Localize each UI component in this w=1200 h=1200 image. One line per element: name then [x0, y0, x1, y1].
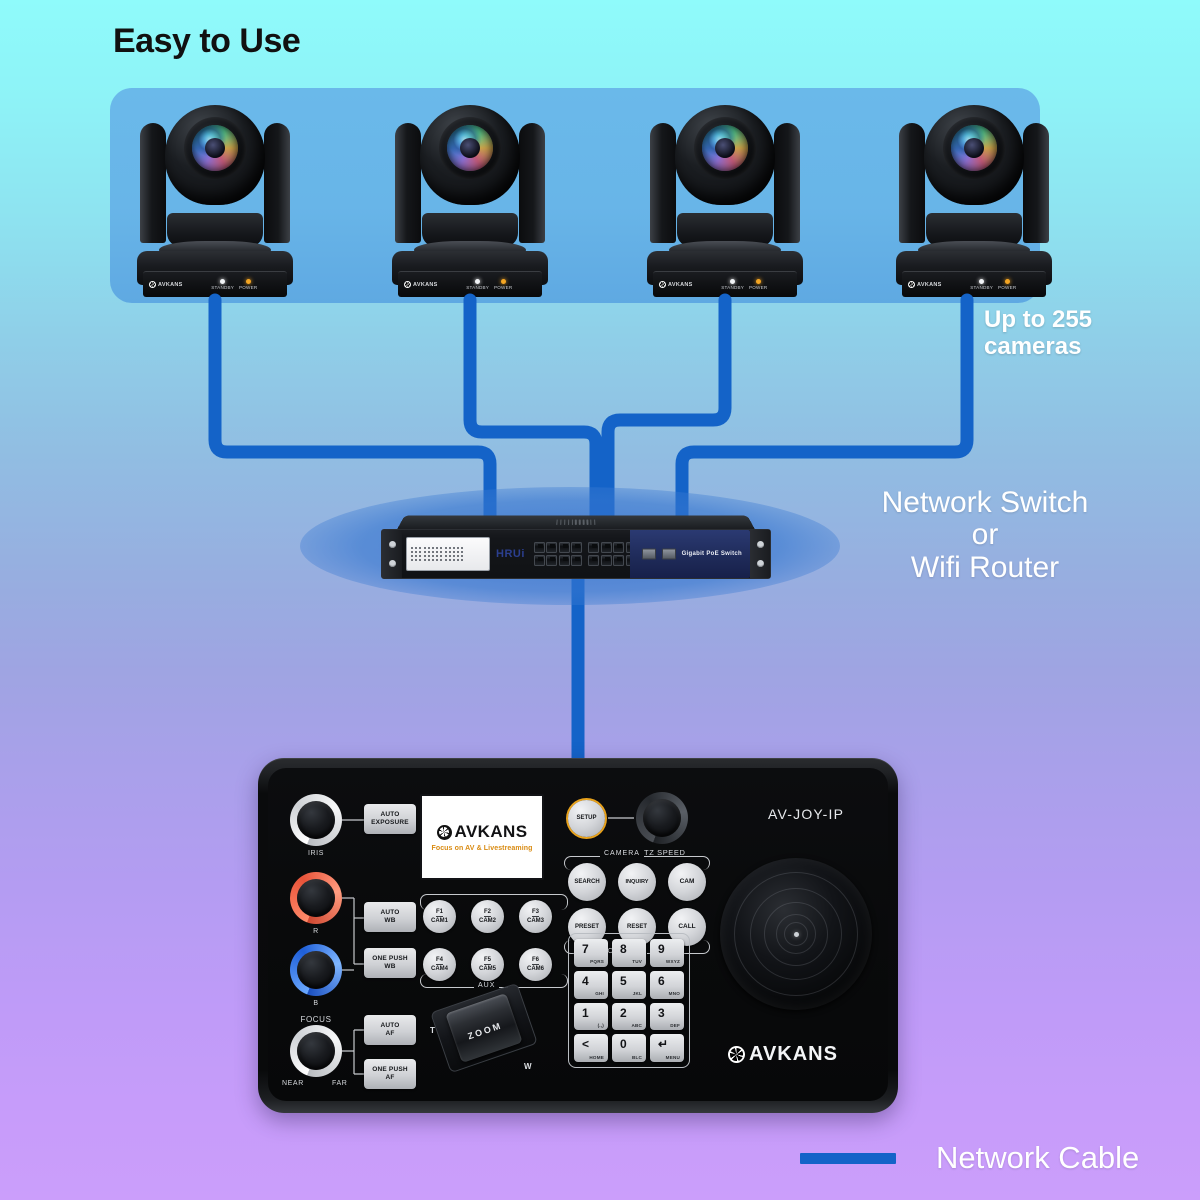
- camera-lens: [702, 125, 748, 171]
- controller-faceplate: AV-JOY-IP AVKANS Focus on AV & Livestrea…: [268, 768, 888, 1101]
- keypad-key-number: 2: [620, 1006, 627, 1020]
- keypad-key-jkl[interactable]: 5JKL: [612, 971, 646, 999]
- f4-label: F4: [436, 957, 443, 965]
- switch-port-row: [534, 542, 583, 553]
- switch-navy-panel: Gigabit PoE Switch: [630, 530, 750, 578]
- camera-brand-text: AVKANS: [668, 282, 693, 288]
- auto-exposure-button[interactable]: AUTO EXPOSURE: [364, 804, 416, 834]
- cam4-label: CAM4: [431, 965, 448, 972]
- blue-gain-knob[interactable]: [290, 944, 342, 996]
- f6-label: F6: [532, 957, 539, 965]
- power-led-icon: [246, 279, 251, 284]
- camera-yoke-arm-right: [519, 123, 545, 243]
- standby-label: STANDBY: [970, 285, 993, 290]
- cam1-label: CAM1: [431, 917, 448, 924]
- keypad-key-number: 8: [620, 942, 627, 956]
- switch-model-label: Gigabit PoE Switch: [682, 551, 742, 557]
- numeric-keypad[interactable]: 7PQRS8TUV9WXYZ4GHI5JKL6MNO1(.,)2ABC3DEF<…: [568, 933, 690, 1068]
- standby-led-icon: [979, 279, 984, 284]
- blue-gain-knob-label: B: [290, 1000, 342, 1007]
- camera-lens-ring: [439, 117, 501, 179]
- rj45-port[interactable]: [613, 555, 624, 566]
- camera-yoke-arm-right: [1023, 123, 1049, 243]
- camera-yoke-arm-right: [264, 123, 290, 243]
- f2-label: F2: [484, 909, 491, 917]
- camera-lens-ring: [184, 117, 246, 179]
- switch-led-row: [411, 547, 485, 549]
- one-push-af-line1: ONE PUSH: [372, 1066, 408, 1074]
- camera-yoke-arm-left: [899, 123, 925, 243]
- power-label: POWER: [998, 285, 1016, 290]
- switch-led-panel: [406, 537, 490, 571]
- rj45-port[interactable]: [601, 542, 612, 553]
- keypad-key-sublabel: MENU: [666, 1055, 680, 1060]
- switch-led-row: [411, 559, 485, 561]
- switch-led-row: [411, 555, 485, 557]
- keypad-key-number: 5: [620, 974, 627, 988]
- focus-knob-cap: [297, 1032, 335, 1070]
- iris-knob-cap: [297, 801, 335, 839]
- cam3-label: CAM3: [527, 917, 544, 924]
- auto-af-button[interactable]: AUTO AF: [364, 1015, 416, 1045]
- camera-yoke-arm-right: [774, 123, 800, 243]
- cam5-label: CAM5: [479, 965, 496, 972]
- sfp-port[interactable]: [662, 549, 676, 560]
- auto-wb-line2: WB: [384, 917, 395, 925]
- ptz-camera-3[interactable]: AVKANSSTANDBYPOWER: [639, 105, 811, 300]
- keypad-key-number: 0: [620, 1037, 627, 1051]
- aperture-icon: [437, 825, 452, 840]
- keypad-key-number: <: [582, 1037, 589, 1051]
- camera-front-plate: AVKANSSTANDBYPOWER: [653, 271, 797, 297]
- switch-port-block-1[interactable]: [531, 542, 586, 566]
- focus-near-label: NEAR: [282, 1080, 304, 1087]
- aperture-icon: [728, 1046, 745, 1063]
- keypad-key-sublabel: BLC: [632, 1055, 642, 1060]
- switch-brand-logo: HRUi: [496, 548, 525, 560]
- switch-rack-ear-right: [750, 530, 770, 578]
- zoom-wide-label: W: [524, 1062, 532, 1071]
- switch-rack-ear-left: [382, 530, 402, 578]
- controller-brand-text: AVKANS: [749, 1043, 838, 1066]
- rj45-port[interactable]: [559, 555, 570, 566]
- legend: Network Cable: [800, 1140, 1180, 1176]
- power-led-icon: [501, 279, 506, 284]
- inquiry-button[interactable]: INQUIRY: [618, 863, 656, 901]
- standby-label: STANDBY: [211, 285, 234, 290]
- auto-af-line1: AUTO: [380, 1022, 399, 1030]
- ptz-speed-knob-cap: [643, 799, 681, 837]
- cable-camera-1: [215, 300, 490, 520]
- diagram-stage: Easy to Use AVKANSSTANDBYPOWER AVKANSSTA…: [0, 0, 1200, 1200]
- cam2-label: CAM2: [479, 917, 496, 924]
- switch-port-row: [534, 555, 583, 566]
- standby-led-icon: [220, 279, 225, 284]
- aperture-icon: [149, 281, 156, 288]
- aux-group-label: AUX: [474, 982, 499, 989]
- ptz-camera-1[interactable]: AVKANSSTANDBYPOWER: [129, 105, 301, 300]
- cam-button[interactable]: CAM: [668, 863, 706, 901]
- keypad-key-wxyz[interactable]: 9WXYZ: [650, 939, 684, 967]
- page-title: Easy to Use: [113, 22, 300, 61]
- switch-caption-line1: Network Switch: [845, 487, 1125, 519]
- camera-brand-logo: AVKANS: [404, 281, 438, 288]
- camera-lens: [951, 125, 997, 171]
- power-led-icon: [756, 279, 761, 284]
- power-led-icon: [1005, 279, 1010, 284]
- keypad-key-menu[interactable]: ↵MENU: [650, 1034, 684, 1062]
- camera-lens-ring: [694, 117, 756, 179]
- rj45-port[interactable]: [571, 555, 582, 566]
- search-label: SEARCH: [574, 879, 599, 886]
- one-push-wb-button[interactable]: ONE PUSH WB: [364, 948, 416, 978]
- switch-face: HRUi Gigabit PoE Switch: [402, 530, 750, 578]
- camera-front-plate: AVKANSSTANDBYPOWER: [902, 271, 1046, 297]
- camera-brand-text: AVKANS: [413, 282, 438, 288]
- aperture-icon: [404, 281, 411, 288]
- camera-head: [411, 105, 529, 225]
- red-gain-knob[interactable]: [290, 872, 342, 924]
- f3-cam3-button[interactable]: F3 CAM3: [519, 900, 552, 933]
- legend-cable-swatch: [800, 1153, 896, 1164]
- standby-led-icon: [475, 279, 480, 284]
- keypad-key-number: 6: [658, 974, 665, 988]
- rj45-port[interactable]: [601, 555, 612, 566]
- camera-head: [915, 105, 1033, 225]
- zoom-rocker[interactable]: ZOOM: [430, 983, 538, 1073]
- camera-dome: [165, 105, 265, 205]
- camera-brand-text: AVKANS: [158, 282, 183, 288]
- setup-label: SETUP: [576, 815, 596, 822]
- call-label: CALL: [678, 923, 695, 930]
- camera-power-indicator: POWER: [749, 279, 767, 290]
- one-push-wb-line2: WB: [384, 963, 395, 971]
- keypad-key-number: ↵: [658, 1037, 668, 1051]
- keypad-key-sublabel: GHI: [595, 991, 604, 996]
- red-gain-knob-cap: [297, 879, 335, 917]
- controller-brand-logo: AVKANS: [728, 1043, 838, 1066]
- focus-far-label: FAR: [332, 1080, 347, 1087]
- rj45-port[interactable]: [546, 555, 557, 566]
- keypad-key-sublabel: WXYZ: [666, 959, 680, 964]
- cam6-label: CAM6: [527, 965, 544, 972]
- ptz-camera-2[interactable]: AVKANSSTANDBYPOWER: [384, 105, 556, 300]
- switch-caption-line2: or: [845, 519, 1125, 551]
- camera-power-indicator: POWER: [494, 279, 512, 290]
- keypad-key-sublabel: HOME: [589, 1055, 604, 1060]
- keypad-key-number: 9: [658, 942, 665, 956]
- keypad-key-number: 3: [658, 1006, 665, 1020]
- f1-cam1-button[interactable]: F1 CAM1: [423, 900, 456, 933]
- lcd-logo: AVKANS: [437, 822, 528, 842]
- keypad-key-sublabel: MNO: [669, 991, 680, 996]
- legend-cable-label: Network Cable: [936, 1140, 1139, 1176]
- keypad-key-tuv[interactable]: 8TUV: [612, 939, 646, 967]
- standby-label: STANDBY: [466, 285, 489, 290]
- power-label: POWER: [749, 285, 767, 290]
- cable-camera-3: [608, 300, 725, 520]
- reset-label: RESET: [627, 924, 647, 931]
- keypad-key-number: 1: [582, 1006, 589, 1020]
- switch-caption: Network Switch or Wifi Router: [845, 487, 1125, 584]
- camera-brand-logo: AVKANS: [908, 281, 942, 288]
- preset-label: PRESET: [575, 924, 599, 931]
- camera-lens: [192, 125, 238, 171]
- keypad-key-sublabel: ABC: [631, 1023, 642, 1028]
- blue-gain-knob-cap: [297, 951, 335, 989]
- one-push-wb-line1: ONE PUSH: [372, 955, 408, 963]
- ptz-camera-4[interactable]: AVKANSSTANDBYPOWER: [888, 105, 1060, 300]
- keypad-key-abc[interactable]: 2ABC: [612, 1003, 646, 1031]
- ptz-controller[interactable]: AV-JOY-IP AVKANS Focus on AV & Livestrea…: [258, 758, 898, 1113]
- switch-sfp-ports[interactable]: [642, 549, 676, 560]
- switch-caption-line3: Wifi Router: [845, 552, 1125, 584]
- auto-exposure-line2: EXPOSURE: [371, 819, 409, 827]
- camera-brand-text: AVKANS: [917, 282, 942, 288]
- camera-dome: [675, 105, 775, 205]
- rj45-port[interactable]: [546, 542, 557, 553]
- focus-knob[interactable]: [290, 1025, 342, 1077]
- camera-standby-indicator: STANDBY: [721, 279, 744, 290]
- camera-front-plate: AVKANSSTANDBYPOWER: [398, 271, 542, 297]
- focus-knob-label: FOCUS: [286, 1015, 346, 1024]
- keypad-key-sublabel: PQRS: [590, 959, 604, 964]
- camera-yoke-arm-left: [140, 123, 166, 243]
- auto-wb-button[interactable]: AUTO WB: [364, 902, 416, 932]
- keypad-key-pqrs[interactable]: 7PQRS: [574, 939, 608, 967]
- f1-label: F1: [436, 909, 443, 917]
- camera-capacity-line2: cameras: [984, 334, 1184, 361]
- keypad-key-ghi[interactable]: 4GHI: [574, 971, 608, 999]
- iris-knob[interactable]: [290, 794, 342, 846]
- controller-lcd-screen[interactable]: AVKANS Focus on AV & Livestreaming: [420, 794, 544, 880]
- ptz-speed-knob[interactable]: [636, 792, 688, 844]
- search-button[interactable]: SEARCH: [568, 863, 606, 901]
- keypad-key-number: 4: [582, 974, 589, 988]
- camera-dome: [420, 105, 520, 205]
- camera-head: [666, 105, 784, 225]
- keypad-key-mno[interactable]: 6MNO: [650, 971, 684, 999]
- joystick-center-dot: [794, 932, 799, 937]
- zoom-tele-label: T: [430, 1026, 435, 1035]
- switch-vent-slots: [556, 519, 595, 524]
- camera-group-label: CAMERA: [600, 850, 644, 857]
- camera-yoke-arm-left: [650, 123, 676, 243]
- camera-standby-indicator: STANDBY: [466, 279, 489, 290]
- power-label: POWER: [494, 285, 512, 290]
- camera-capacity-label: Up to 255 cameras: [984, 307, 1184, 361]
- auto-af-line2: AF: [385, 1030, 394, 1038]
- camera-standby-indicator: STANDBY: [211, 279, 234, 290]
- rj45-port[interactable]: [534, 555, 545, 566]
- camera-head: [156, 105, 274, 225]
- auto-wb-line1: AUTO: [380, 909, 399, 917]
- keypad-key-def[interactable]: 3DEF: [650, 1003, 684, 1031]
- lcd-logo-text: AVKANS: [455, 822, 528, 842]
- rj45-port[interactable]: [534, 542, 545, 553]
- camera-yoke-arm-left: [395, 123, 421, 243]
- iris-knob-label: IRIS: [290, 850, 342, 857]
- lcd-tagline: Focus on AV & Livestreaming: [431, 845, 532, 852]
- keypad-key-[interactable]: 1(.,): [574, 1003, 608, 1031]
- cam-label: CAM: [680, 878, 695, 885]
- keypad-key-sublabel: TUV: [632, 959, 642, 964]
- aperture-icon: [659, 281, 666, 288]
- rj45-port[interactable]: [588, 555, 599, 566]
- camera-power-indicator: POWER: [998, 279, 1016, 290]
- f3-label: F3: [532, 909, 539, 917]
- camera-dome: [924, 105, 1024, 205]
- rj45-port[interactable]: [588, 542, 599, 553]
- rj45-port[interactable]: [571, 542, 582, 553]
- camera-power-indicator: POWER: [239, 279, 257, 290]
- standby-label: STANDBY: [721, 285, 744, 290]
- keypad-key-sublabel: (.,): [598, 1023, 604, 1028]
- rj45-port[interactable]: [559, 542, 570, 553]
- power-label: POWER: [239, 285, 257, 290]
- camera-standby-indicator: STANDBY: [970, 279, 993, 290]
- keypad-key-sublabel: JKL: [633, 991, 642, 996]
- sfp-port[interactable]: [642, 549, 656, 560]
- f2-cam2-button[interactable]: F2 CAM2: [471, 900, 504, 933]
- standby-led-icon: [730, 279, 735, 284]
- one-push-af-button[interactable]: ONE PUSH AF: [364, 1059, 416, 1089]
- rj45-port[interactable]: [613, 542, 624, 553]
- ptz-joystick[interactable]: [720, 858, 872, 1010]
- camera-brand-logo: AVKANS: [149, 281, 183, 288]
- controller-model-label: AV-JOY-IP: [768, 806, 844, 822]
- network-switch[interactable]: HRUi Gigabit PoE Switch: [381, 511, 771, 579]
- switch-front-panel: HRUi Gigabit PoE Switch: [381, 529, 771, 579]
- camera-capacity-line1: Up to 255: [984, 307, 1184, 334]
- camera-brand-logo: AVKANS: [659, 281, 693, 288]
- one-push-af-line2: AF: [385, 1074, 394, 1082]
- keypad-key-sublabel: DEF: [670, 1023, 680, 1028]
- aperture-icon: [908, 281, 915, 288]
- f5-label: F5: [484, 957, 491, 965]
- switch-led-row: [411, 551, 485, 553]
- camera-lens-ring: [943, 117, 1005, 179]
- camera-front-plate: AVKANSSTANDBYPOWER: [143, 271, 287, 297]
- camera-lens: [447, 125, 493, 171]
- keypad-key-number: 7: [582, 942, 589, 956]
- red-gain-knob-label: R: [290, 928, 342, 935]
- inquiry-label: INQUIRY: [625, 879, 648, 885]
- keypad-key-home[interactable]: <HOME: [574, 1034, 608, 1062]
- setup-button[interactable]: SETUP: [568, 800, 605, 837]
- auto-exposure-line1: AUTO: [380, 811, 399, 819]
- keypad-key-blc[interactable]: 0BLC: [612, 1034, 646, 1062]
